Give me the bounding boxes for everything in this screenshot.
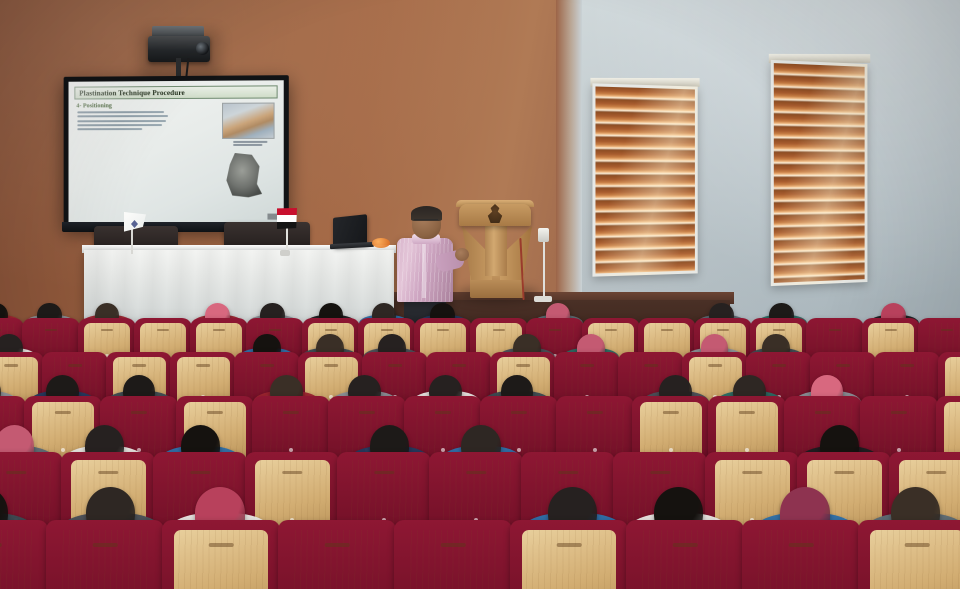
wall-corner-edge xyxy=(556,0,582,330)
seat-handle-slot xyxy=(743,471,763,475)
seat-handle-slot xyxy=(99,471,119,475)
projection-screen: Plastination Technique Procedure 4- Posi… xyxy=(64,75,289,229)
seat-handle-slot xyxy=(283,411,299,414)
seat-handle-slot xyxy=(891,411,907,414)
auditorium-seat xyxy=(858,520,960,589)
window-2-blinds xyxy=(774,63,865,283)
seat-handle-slot xyxy=(381,329,393,331)
seat-handle-slot xyxy=(511,411,527,414)
auditorium-seat xyxy=(394,520,512,589)
seat-handle-slot xyxy=(661,329,673,331)
lecture-hall-photograph: Plastination Technique Procedure 4- Posi… xyxy=(0,0,960,589)
seat-handle-slot xyxy=(441,543,466,548)
seat-handle-slot xyxy=(581,364,595,367)
window-1 xyxy=(592,83,697,276)
seat-back-panel xyxy=(174,530,268,589)
seat-wood-grain xyxy=(870,530,960,589)
seat-handle-slot xyxy=(789,543,814,548)
seat-handle-slot xyxy=(709,364,723,367)
seat-handle-slot xyxy=(389,364,403,367)
auditorium-seat xyxy=(162,520,280,589)
seat-back-panel xyxy=(870,530,960,589)
seat-handle-slot xyxy=(717,329,729,331)
seat-handle-slot xyxy=(901,364,915,367)
seat-wood-grain xyxy=(522,530,616,589)
seat-handle-slot xyxy=(435,411,451,414)
seat-wood-grain xyxy=(406,530,500,589)
microphone-stand xyxy=(543,238,545,300)
seat-handle-slot xyxy=(261,364,275,367)
seat-handle-slot xyxy=(835,471,855,475)
glasses-icon xyxy=(414,219,438,224)
microphone-icon xyxy=(538,228,549,242)
seat-handle-slot xyxy=(493,329,505,331)
seat-handle-slot xyxy=(55,411,71,414)
window-2 xyxy=(771,60,868,286)
seat-handle-slot xyxy=(651,471,671,475)
seat-wood-grain xyxy=(290,530,384,589)
seat-wood-grain xyxy=(58,530,152,589)
seat-back-panel xyxy=(638,530,732,589)
seat-handle-slot xyxy=(605,329,617,331)
screen-glare xyxy=(69,80,284,224)
seat-handle-slot xyxy=(209,543,234,548)
university-flag-pole xyxy=(131,228,133,254)
seat-back-panel xyxy=(0,530,36,589)
seat-handle-slot xyxy=(191,471,211,475)
seat-handle-slot xyxy=(5,364,19,367)
auditorium-seat xyxy=(626,520,744,589)
auditorium-seat xyxy=(742,520,860,589)
seat-handle-slot xyxy=(375,471,395,475)
seat-handle-slot xyxy=(663,411,679,414)
seat-handle-slot xyxy=(69,364,83,367)
projector-lens-icon xyxy=(196,42,209,55)
seat-handle-slot xyxy=(101,329,113,331)
auditorium-seat xyxy=(510,520,628,589)
seat-handle-slot xyxy=(207,411,223,414)
seat-back-panel xyxy=(522,530,616,589)
iraq-flag-base xyxy=(280,250,290,256)
seat-handle-slot xyxy=(197,364,211,367)
seat-wood-grain xyxy=(638,530,732,589)
seat-handle-slot xyxy=(213,329,225,331)
seat-handle-slot xyxy=(885,329,897,331)
auditorium-seat xyxy=(278,520,396,589)
seat-wood-grain xyxy=(174,530,268,589)
seat-handle-slot xyxy=(673,543,698,548)
screen-surface: Plastination Technique Procedure 4- Posi… xyxy=(69,80,284,224)
seat-handle-slot xyxy=(837,364,851,367)
microphone-base xyxy=(534,296,552,302)
speaker-shirt-placket xyxy=(422,240,426,298)
seat-handle-slot xyxy=(905,543,930,548)
seat-handle-slot xyxy=(739,411,755,414)
seat-back-panel xyxy=(406,530,500,589)
speaker-hand xyxy=(455,248,469,261)
iraq-flag-icon xyxy=(277,208,297,229)
seat-handle-slot xyxy=(325,364,339,367)
seat-handle-slot xyxy=(325,329,337,331)
auditorium-seat xyxy=(46,520,164,589)
seat-handle-slot xyxy=(557,543,582,548)
seat-handle-slot xyxy=(927,471,947,475)
seat-handle-slot xyxy=(45,329,57,331)
seat-handle-slot xyxy=(815,411,831,414)
podium-column xyxy=(485,224,507,276)
seat-handle-slot xyxy=(587,411,603,414)
seat-handle-slot xyxy=(467,471,487,475)
seat-handle-slot xyxy=(559,471,579,475)
seat-handle-slot xyxy=(325,543,350,548)
seat-wood-grain xyxy=(754,530,848,589)
seat-handle-slot xyxy=(133,364,147,367)
desk-item-orange xyxy=(372,238,390,248)
seat-back-panel xyxy=(290,530,384,589)
seat-handle-slot xyxy=(7,471,27,475)
window-1-blinds xyxy=(595,86,694,273)
seat-handle-slot xyxy=(517,364,531,367)
seat-back-panel xyxy=(58,530,152,589)
seat-handle-slot xyxy=(0,543,1,548)
seat-handle-slot xyxy=(941,329,953,331)
seat-back-panel xyxy=(754,530,848,589)
seat-wood-grain xyxy=(0,530,36,589)
seat-handle-slot xyxy=(131,411,147,414)
seat-handle-slot xyxy=(283,471,303,475)
seat-handle-slot xyxy=(549,329,561,331)
seat-handle-slot xyxy=(93,543,118,548)
seat-handle-slot xyxy=(359,411,375,414)
seat-handle-slot xyxy=(773,364,787,367)
seat-handle-slot xyxy=(829,329,841,331)
seat-handle-slot xyxy=(645,364,659,367)
seat-handle-slot xyxy=(157,329,169,331)
auditorium-seat xyxy=(0,520,48,589)
seat-handle-slot xyxy=(453,364,467,367)
seat-handle-slot xyxy=(269,329,281,331)
seat-handle-slot xyxy=(437,329,449,331)
seat-handle-slot xyxy=(773,329,785,331)
